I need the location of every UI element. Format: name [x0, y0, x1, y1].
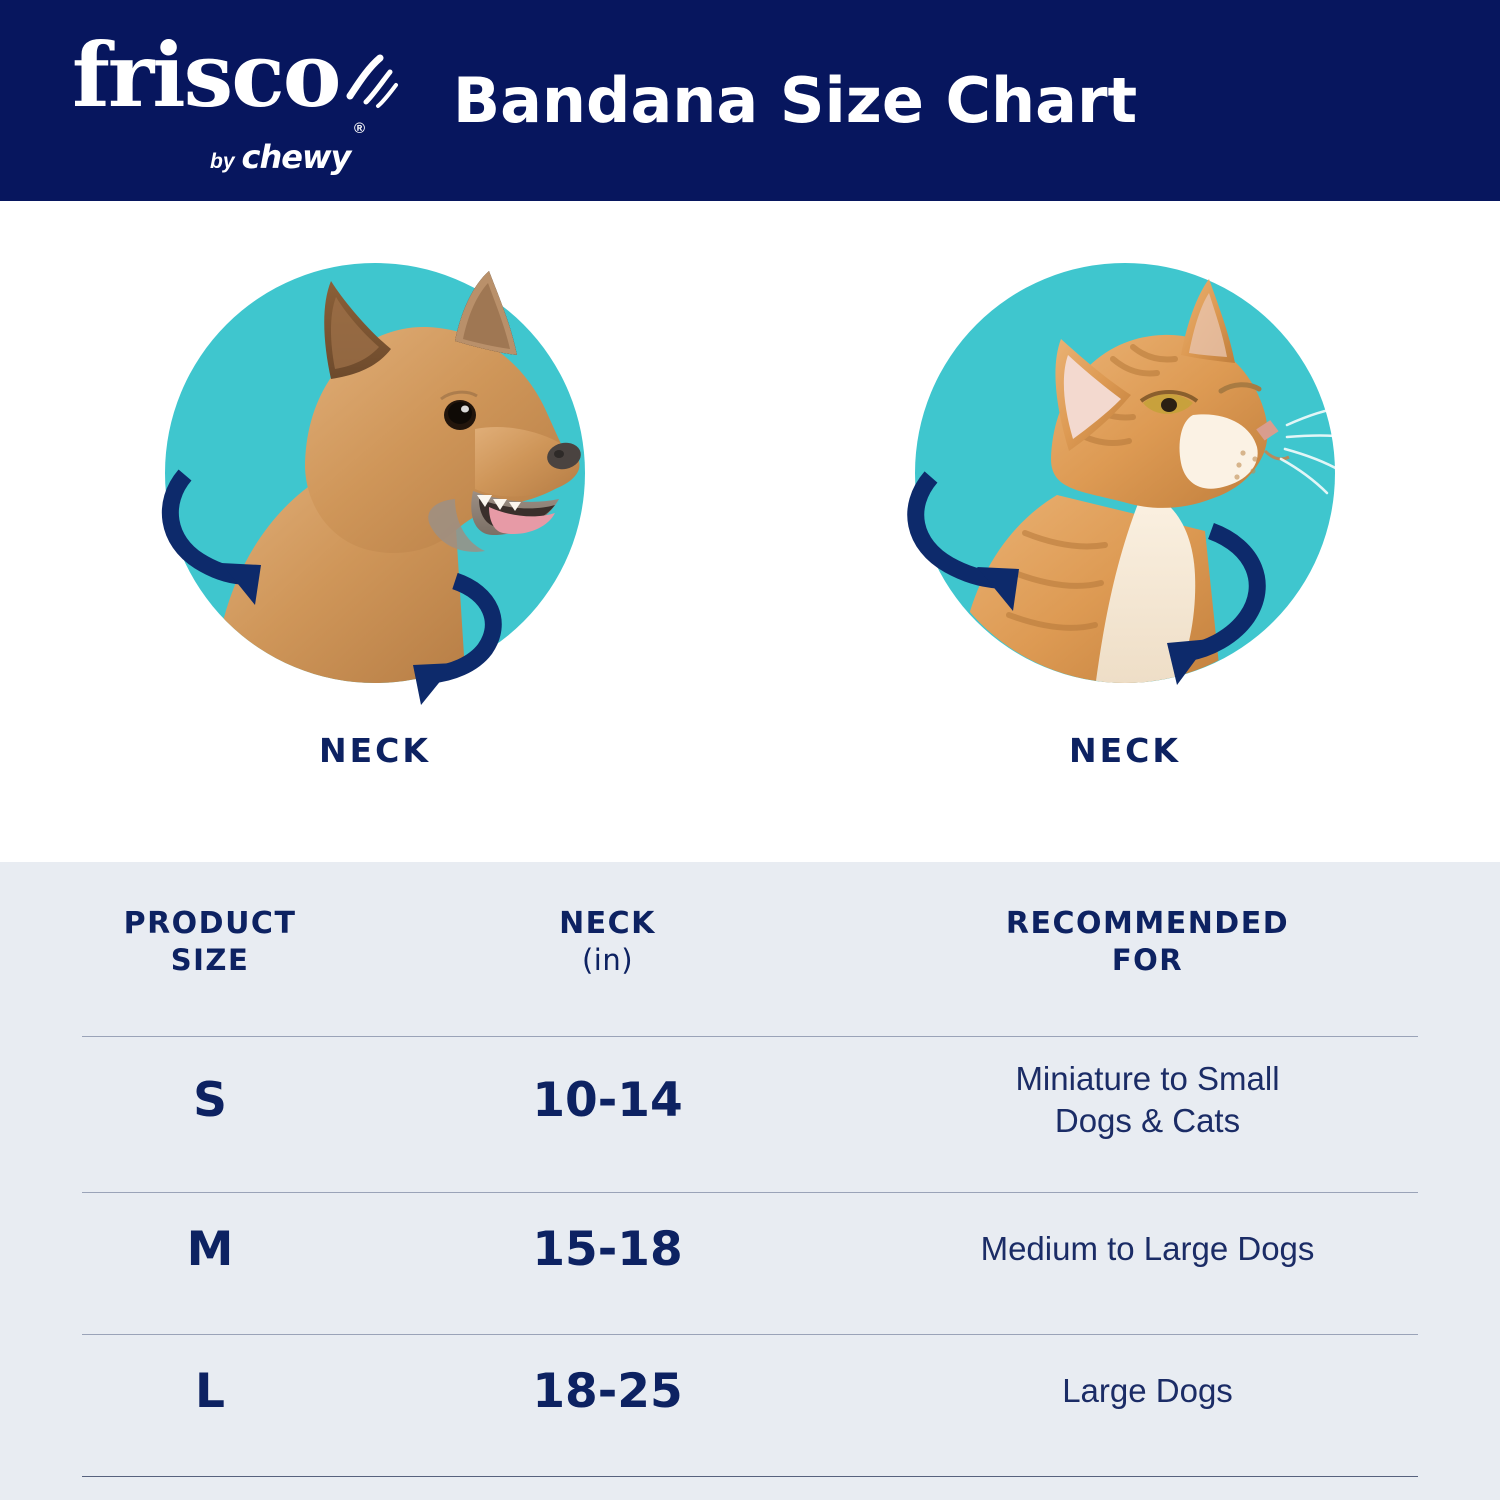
table-divider: [82, 1192, 1418, 1193]
dog-neck-label: NECK: [0, 731, 750, 770]
value-size: M: [187, 1222, 234, 1277]
table-divider-bottom: [82, 1476, 1418, 1477]
value-size: L: [195, 1364, 225, 1419]
table-row: M 15-18 Medium to Large Dogs: [0, 1178, 1500, 1320]
value-recommended-line2: Dogs & Cats: [1015, 1100, 1279, 1142]
size-table: PRODUCT SIZE NECK (in) RECOMMENDED FOR: [0, 862, 1500, 1462]
illustration-band: NECK: [0, 201, 1500, 862]
table-divider: [82, 1334, 1418, 1335]
table-row: S 10-14 Miniature to Small Dogs & Cats: [0, 1022, 1500, 1178]
cell-neck: 10-14: [420, 1073, 795, 1128]
cat-illustration-column: NECK: [750, 201, 1500, 862]
cat-neck-label: NECK: [750, 731, 1500, 770]
cat-head-profile-icon: [905, 263, 1345, 703]
header-product-size-line2: SIZE: [124, 943, 297, 978]
dog-stage: [155, 263, 595, 703]
header-neck-line1: NECK: [559, 906, 656, 941]
value-neck: 10-14: [532, 1073, 682, 1128]
header-cell-neck: NECK (in): [420, 906, 795, 978]
value-neck: 15-18: [532, 1222, 682, 1277]
header-recommended-line1: RECOMMENDED: [1006, 906, 1289, 941]
table-header-row: PRODUCT SIZE NECK (in) RECOMMENDED FOR: [0, 862, 1500, 1022]
size-chart-page: frisco ® by chewy Bandana Size Chart: [0, 0, 1500, 1500]
cat-stage: [905, 263, 1345, 703]
page-title: Bandana Size Chart: [0, 0, 1500, 201]
value-size: S: [193, 1073, 227, 1128]
value-recommended-line1: Miniature to Small: [1015, 1058, 1279, 1100]
value-recommended-line1: Medium to Large Dogs: [981, 1228, 1315, 1270]
cell-recommended: Miniature to Small Dogs & Cats: [795, 1058, 1500, 1142]
header-recommended-line2: FOR: [1006, 943, 1289, 978]
header-cell-product-size: PRODUCT SIZE: [0, 906, 420, 978]
value-neck: 18-25: [532, 1364, 682, 1419]
cell-size: L: [0, 1364, 420, 1419]
cell-neck: 15-18: [420, 1222, 795, 1277]
cell-recommended: Large Dogs: [795, 1370, 1500, 1412]
cell-size: M: [0, 1222, 420, 1277]
value-recommended-line1: Large Dogs: [1062, 1370, 1233, 1412]
size-table-section: PRODUCT SIZE NECK (in) RECOMMENDED FOR: [0, 862, 1500, 1500]
table-divider: [82, 1036, 1418, 1037]
table-row: L 18-25 Large Dogs: [0, 1320, 1500, 1462]
dog-head-profile-icon: [155, 263, 595, 703]
cell-recommended: Medium to Large Dogs: [795, 1228, 1500, 1270]
dog-illustration-column: NECK: [0, 201, 750, 862]
header-product-size-line1: PRODUCT: [124, 906, 297, 941]
cell-size: S: [0, 1073, 420, 1128]
page-header: frisco ® by chewy Bandana Size Chart: [0, 0, 1500, 201]
header-neck-unit: (in): [559, 943, 656, 978]
cell-neck: 18-25: [420, 1364, 795, 1419]
header-cell-recommended-for: RECOMMENDED FOR: [795, 906, 1500, 978]
